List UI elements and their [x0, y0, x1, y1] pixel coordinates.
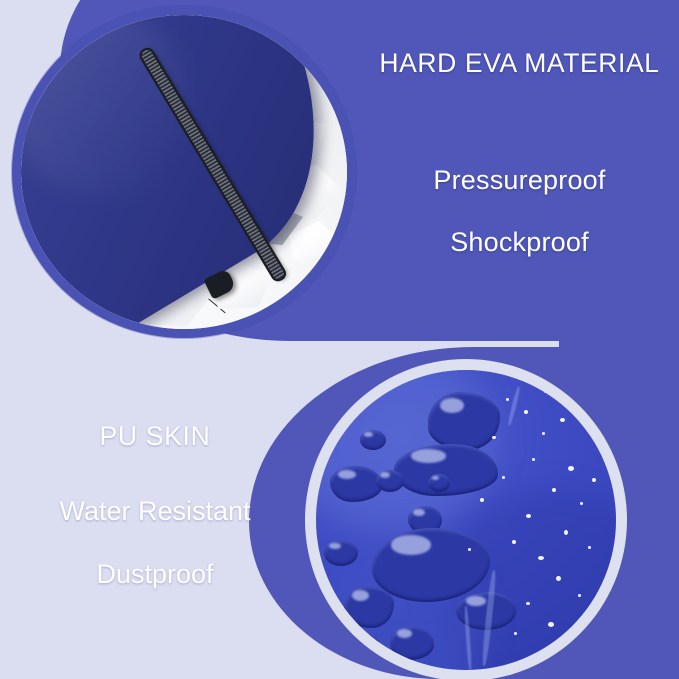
water-spray-speck [568, 466, 574, 471]
water-spray-speck [526, 602, 530, 605]
pu-skin-heading: PU SKIN [100, 421, 211, 452]
water-spray-speck [538, 556, 544, 560]
water-droplet [344, 586, 394, 628]
water-spray-speck [544, 390, 547, 393]
feature-pressureproof: Pressureproof [433, 165, 605, 196]
top-panel-text-column: HARD EVA MATERIAL Pressureproof Shockpro… [360, 0, 679, 341]
water-spray-speck [556, 576, 561, 581]
water-droplet [330, 466, 382, 502]
water-droplet [428, 392, 500, 450]
pu-skin-panel: PU SKIN Water Resistant Dustproof [0, 341, 679, 679]
water-spray-speck [552, 488, 556, 492]
water-spray-speck [572, 638, 576, 642]
water-streak [507, 386, 521, 426]
water-beading-pu-skin-photo [316, 370, 616, 670]
water-spray-speck [578, 594, 581, 597]
water-spray-speck [564, 530, 568, 535]
water-spray-speck [580, 502, 583, 505]
cracked-wall-lens-inner [21, 15, 347, 329]
water-spray-speck [560, 418, 565, 422]
feature-water-resistant: Water Resistant [59, 496, 250, 527]
water-spray-speck [512, 540, 516, 544]
water-droplet [350, 634, 380, 658]
water-droplet [390, 626, 434, 660]
water-spray-speck [502, 476, 505, 479]
water-spray-speck [514, 632, 517, 635]
water-spray-speck [492, 436, 496, 439]
water-droplet [428, 474, 450, 492]
water-spray-speck [526, 514, 531, 518]
feature-dustproof: Dustproof [96, 559, 213, 590]
water-spray-speck [480, 498, 484, 502]
water-spray-speck [592, 478, 596, 482]
bottom-panel-text-column: PU SKIN Water Resistant Dustproof [0, 341, 310, 679]
water-spray-speck [542, 432, 545, 435]
product-feature-infographic: HARD EVA MATERIAL Pressureproof Shockpro… [0, 0, 679, 679]
cracked-wall-eva-case-photo [12, 6, 356, 338]
water-spray-speck [524, 410, 528, 414]
water-spray-speck [548, 622, 554, 627]
hard-eva-material-panel: HARD EVA MATERIAL Pressureproof Shockpro… [0, 0, 679, 341]
water-spray-speck [588, 546, 591, 549]
water-spray-speck [506, 398, 509, 401]
hard-eva-material-heading: HARD EVA MATERIAL [379, 48, 659, 79]
feature-shockproof: Shockproof [450, 227, 589, 258]
water-spray-speck [532, 458, 535, 461]
water-droplet [360, 430, 386, 450]
water-droplet [324, 540, 358, 566]
water-spray-speck [468, 548, 471, 551]
water-droplet [376, 470, 404, 492]
